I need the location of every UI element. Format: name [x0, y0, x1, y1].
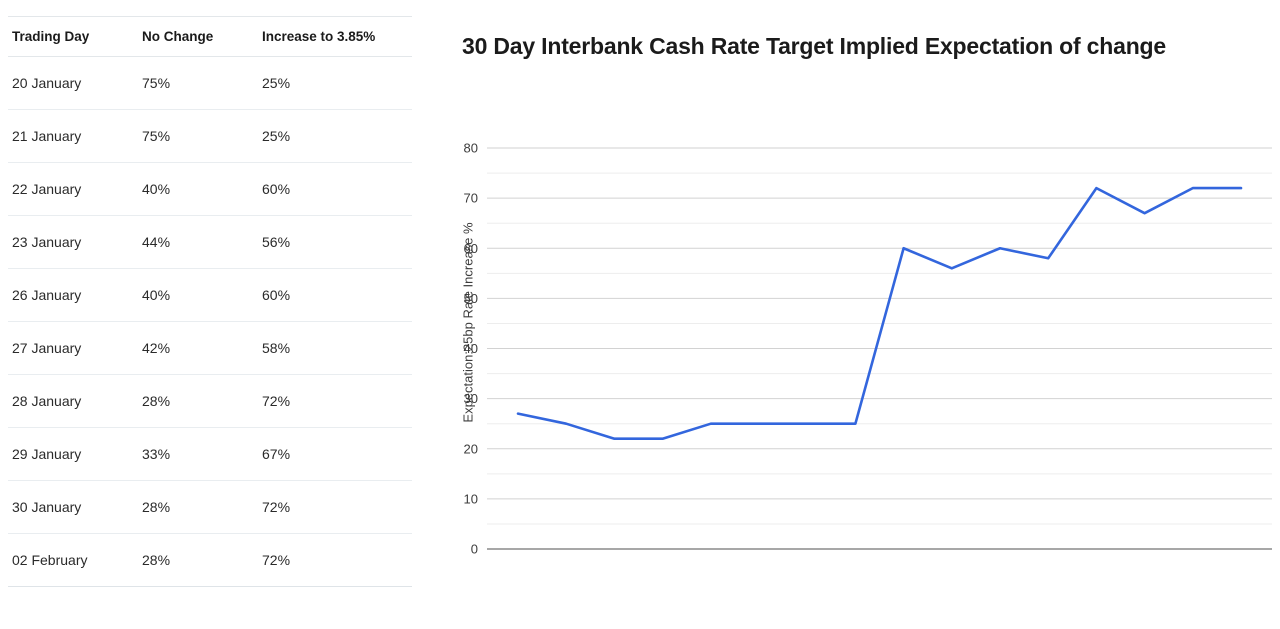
chart-title: 30 Day Interbank Cash Rate Target Implie… — [462, 30, 1252, 63]
cell-trading-day: 29 January — [8, 428, 138, 481]
page-root: Trading Day No Change Increase to 3.85% … — [0, 0, 1280, 629]
cell-trading-day: 28 January — [8, 375, 138, 428]
cell-no-change: 75% — [138, 57, 258, 110]
rate-table: Trading Day No Change Increase to 3.85% … — [8, 16, 412, 587]
cell-trading-day: 02 February — [8, 534, 138, 587]
cell-trading-day: 30 January — [8, 481, 138, 534]
cell-increase: 56% — [258, 216, 412, 269]
cell-increase: 72% — [258, 534, 412, 587]
cell-no-change: 44% — [138, 216, 258, 269]
y-tick-label: 50 — [464, 291, 478, 306]
y-tick-label: 0 — [471, 542, 478, 556]
column-header-no-change: No Change — [138, 17, 258, 57]
cell-increase: 25% — [258, 57, 412, 110]
cell-increase: 67% — [258, 428, 412, 481]
cell-trading-day: 21 January — [8, 110, 138, 163]
table-row: 20 January75%25% — [8, 57, 412, 110]
cell-increase: 25% — [258, 110, 412, 163]
column-header-trading-day: Trading Day — [8, 17, 138, 57]
table-row: 02 February28%72% — [8, 534, 412, 587]
y-tick-label: 40 — [464, 341, 478, 356]
cell-no-change: 40% — [138, 269, 258, 322]
cell-trading-day: 23 January — [8, 216, 138, 269]
table-row: 27 January42%58% — [8, 322, 412, 375]
y-tick-label: 20 — [464, 441, 478, 456]
line-chart-svg: 01020304050607080 — [440, 130, 1280, 555]
cell-no-change: 28% — [138, 375, 258, 428]
series-line-group — [518, 188, 1241, 439]
y-tick-label: 60 — [464, 241, 478, 256]
cell-no-change: 75% — [138, 110, 258, 163]
y-tick-label: 30 — [464, 391, 478, 406]
chart-panel: 30 Day Interbank Cash Rate Target Implie… — [440, 0, 1280, 629]
table-row: 28 January28%72% — [8, 375, 412, 428]
cell-increase: 60% — [258, 269, 412, 322]
cell-trading-day: 22 January — [8, 163, 138, 216]
table-row: 29 January33%67% — [8, 428, 412, 481]
cell-increase: 60% — [258, 163, 412, 216]
y-tick-labels: 01020304050607080 — [464, 141, 478, 556]
y-tick-label: 80 — [464, 141, 478, 156]
y-tick-label: 70 — [464, 191, 478, 206]
series-line-rate-increase — [518, 188, 1241, 439]
cell-increase: 72% — [258, 375, 412, 428]
table-header-row: Trading Day No Change Increase to 3.85% — [8, 17, 412, 57]
cell-no-change: 40% — [138, 163, 258, 216]
cell-increase: 58% — [258, 322, 412, 375]
table-row: 26 January40%60% — [8, 269, 412, 322]
table-body: 20 January75%25%21 January75%25%22 Janua… — [8, 57, 412, 587]
table-row: 23 January44%56% — [8, 216, 412, 269]
rate-table-panel: Trading Day No Change Increase to 3.85% … — [0, 0, 420, 629]
cell-increase: 72% — [258, 481, 412, 534]
y-tick-label: 10 — [464, 491, 478, 506]
table-row: 21 January75%25% — [8, 110, 412, 163]
cell-no-change: 28% — [138, 534, 258, 587]
plot-area: Expectation:25bp Rate Increase % 0102030… — [440, 130, 1280, 555]
table-row: 22 January40%60% — [8, 163, 412, 216]
cell-trading-day: 27 January — [8, 322, 138, 375]
cell-trading-day: 20 January — [8, 57, 138, 110]
cell-no-change: 28% — [138, 481, 258, 534]
table-head: Trading Day No Change Increase to 3.85% — [8, 17, 412, 57]
cell-no-change: 33% — [138, 428, 258, 481]
table-row: 30 January28%72% — [8, 481, 412, 534]
cell-no-change: 42% — [138, 322, 258, 375]
cell-trading-day: 26 January — [8, 269, 138, 322]
column-header-increase: Increase to 3.85% — [258, 17, 412, 57]
